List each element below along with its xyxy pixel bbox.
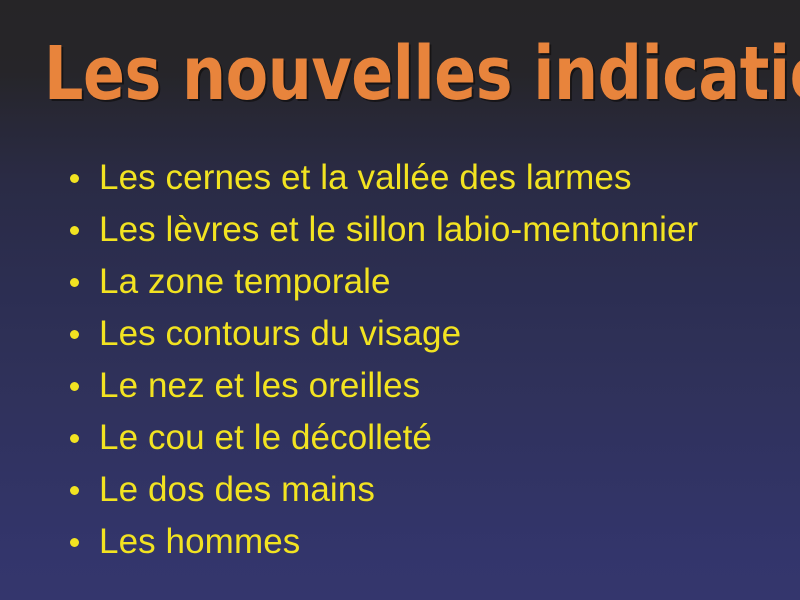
bullet-text: La zone temporale: [99, 256, 391, 308]
list-item: Le dos des mains: [0, 464, 800, 516]
list-item: Le nez et les oreilles: [0, 360, 800, 412]
bullet-text: Le cou et le décolleté: [99, 412, 432, 464]
bullet-dot-icon: [70, 174, 79, 183]
bullet-text: Les cernes et la vallée des larmes: [99, 152, 632, 204]
bullet-dot-icon: [70, 330, 79, 339]
bullet-dot-icon: [70, 434, 79, 443]
bullet-dot-icon: [70, 382, 79, 391]
list-item: Les cernes et la vallée des larmes: [0, 152, 800, 204]
bullet-text: Les hommes: [99, 516, 300, 568]
list-item: Les hommes: [0, 516, 800, 568]
list-item: Les contours du visage: [0, 308, 800, 360]
list-item: Le cou et le décolleté: [0, 412, 800, 464]
bullet-dot-icon: [70, 486, 79, 495]
bullet-list: Les cernes et la vallée des larmes Les l…: [0, 152, 800, 568]
bullet-text: Le dos des mains: [99, 464, 375, 516]
bullet-dot-icon: [70, 226, 79, 235]
list-item: La zone temporale: [0, 256, 800, 308]
bullet-text: Les contours du visage: [99, 308, 461, 360]
bullet-dot-icon: [70, 538, 79, 547]
presentation-slide: Les nouvelles indications Les cernes et …: [0, 0, 800, 600]
bullet-text: Le nez et les oreilles: [99, 360, 420, 412]
bullet-dot-icon: [70, 278, 79, 287]
slide-title: Les nouvelles indications: [44, 36, 706, 112]
list-item: Les lèvres et le sillon labio-mentonnier: [0, 204, 800, 256]
bullet-text: Les lèvres et le sillon labio-mentonnier: [99, 204, 698, 256]
